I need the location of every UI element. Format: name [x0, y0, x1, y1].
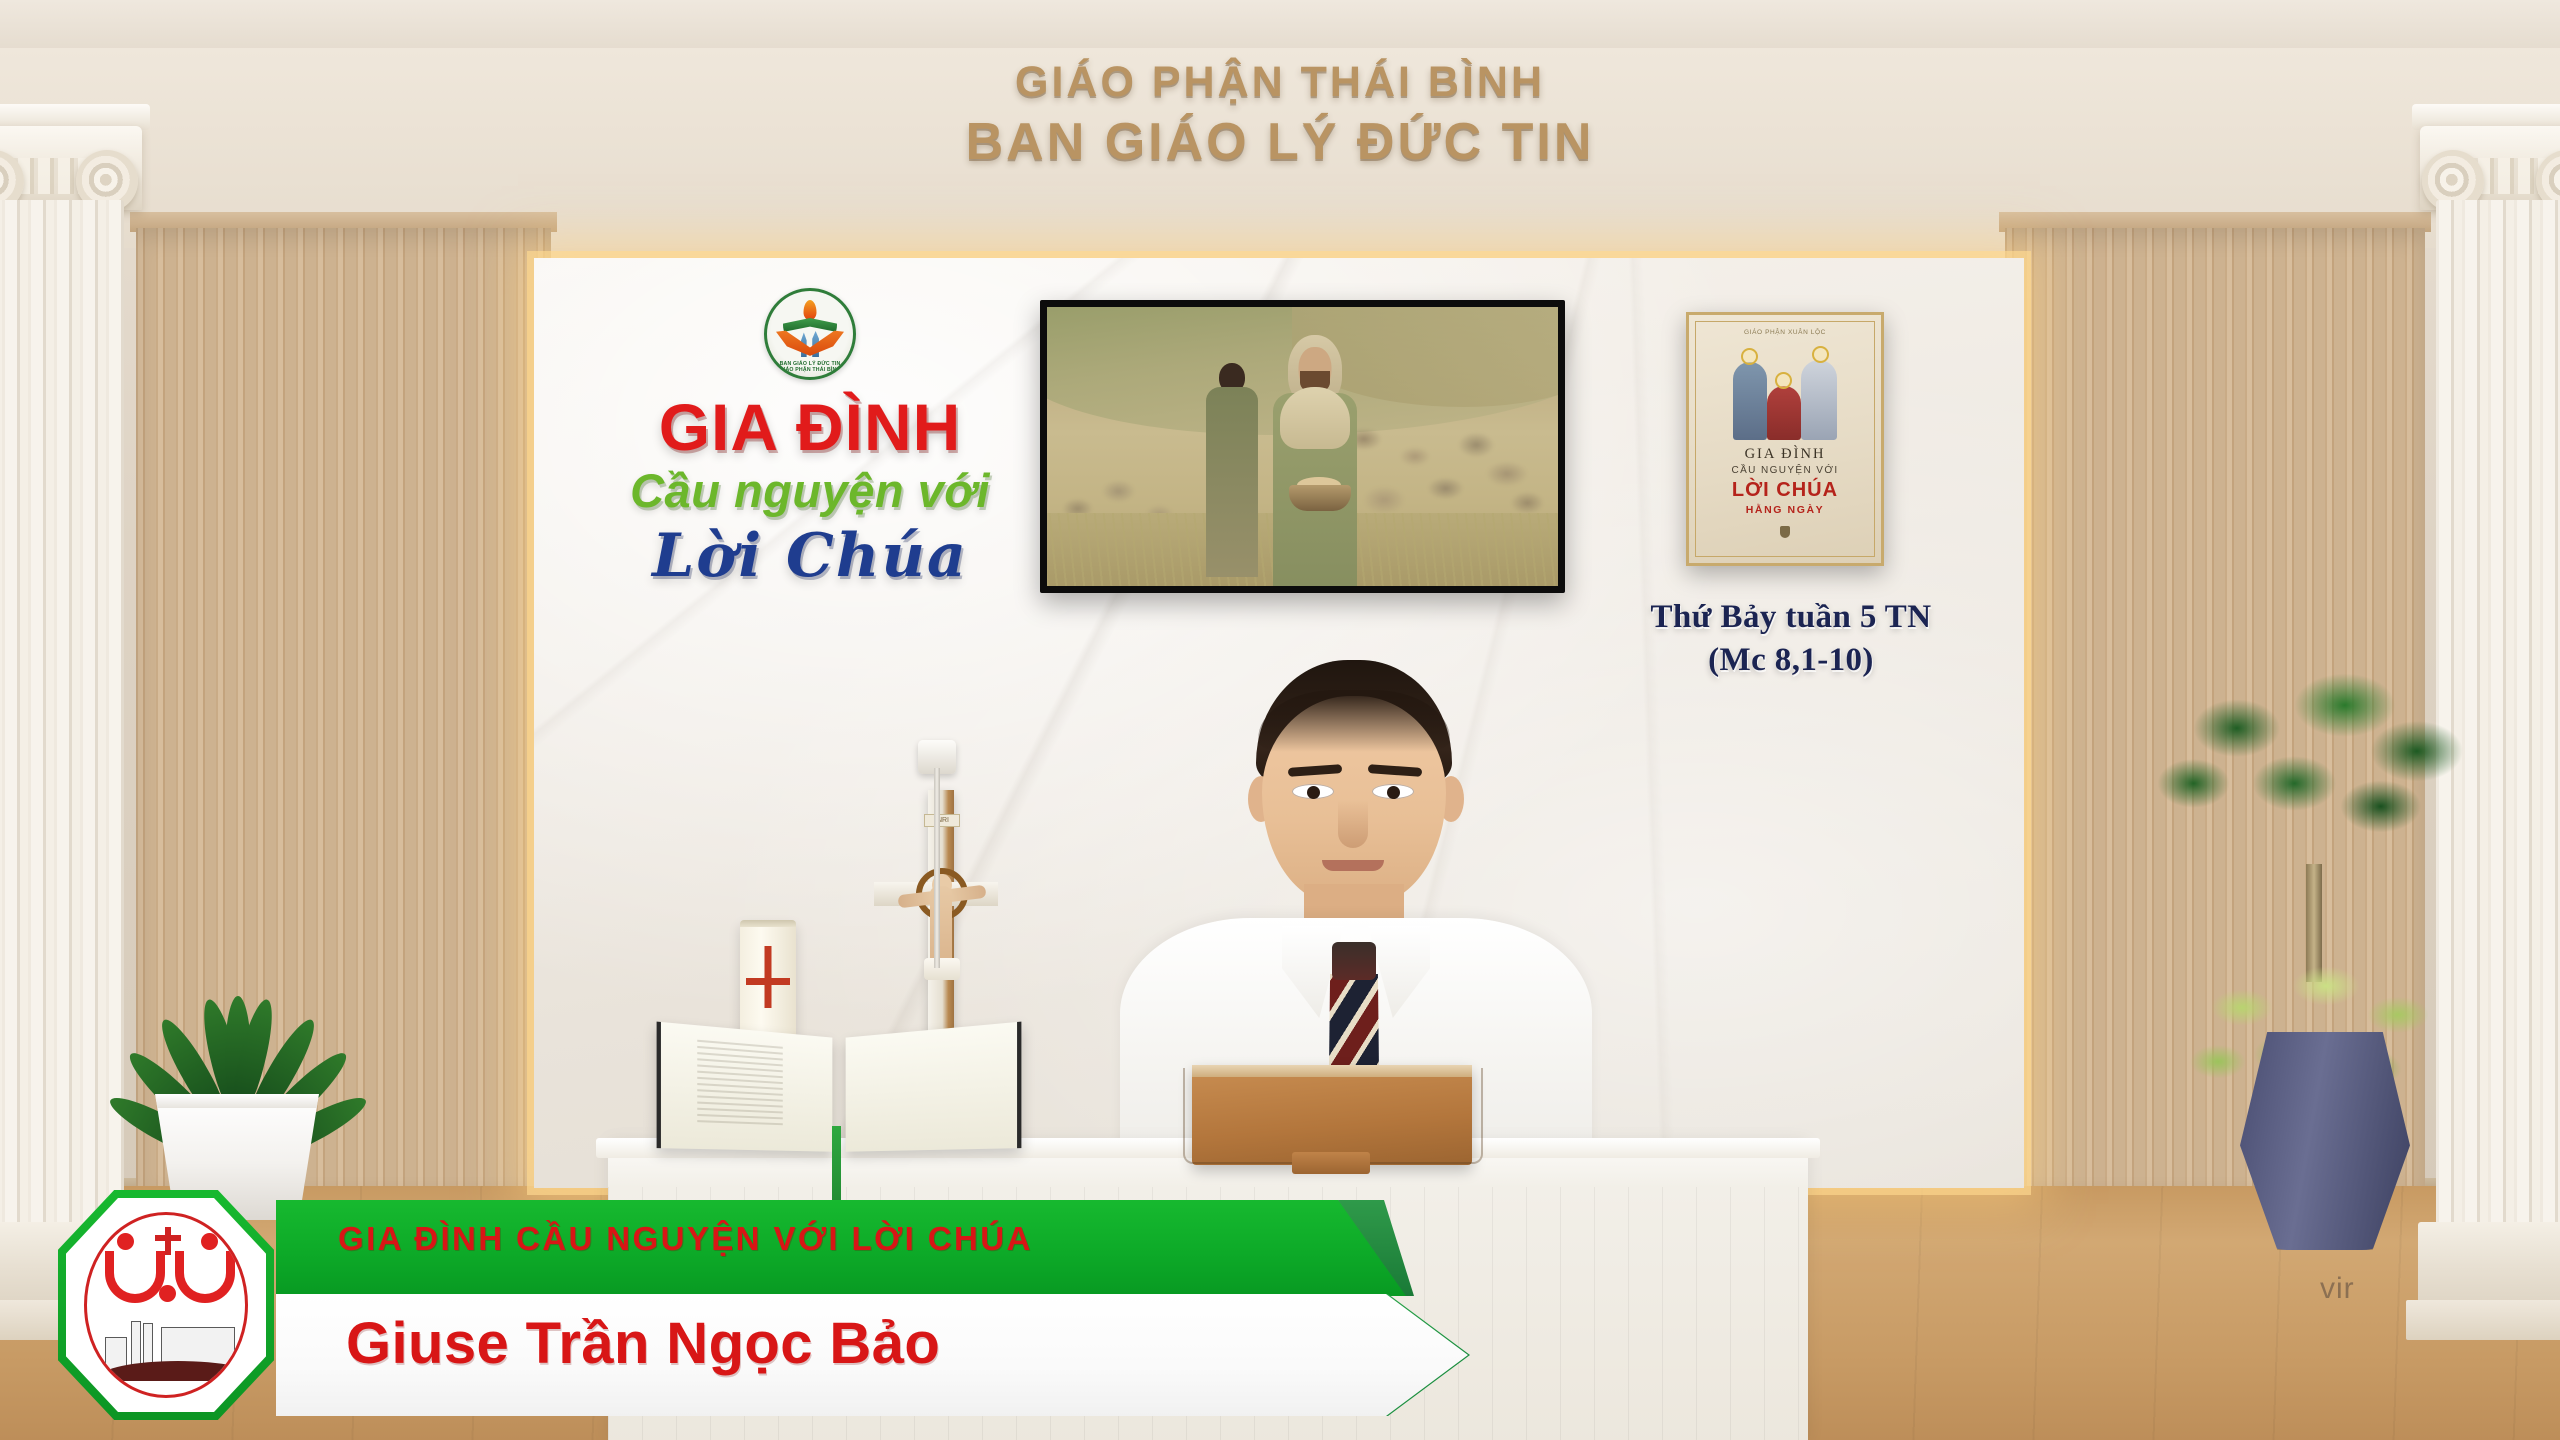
flame-icon	[804, 300, 817, 320]
inri-plaque: INRI	[924, 814, 960, 827]
book-title-line1: GIA ĐÌNH	[1697, 446, 1873, 463]
diocese-emblem-icon: BAN GIÁO LÝ ĐỨC TIN GIÁO PHẬN THÁI BÌNH	[764, 288, 856, 380]
open-book-icon	[783, 318, 837, 332]
family-figures-icon	[101, 1233, 237, 1309]
gospel-image-panel	[1040, 300, 1565, 593]
basket-icon	[1289, 485, 1351, 511]
book-title-line3: LỜI CHÚA	[1697, 479, 1873, 502]
paschal-candle	[740, 920, 796, 1038]
emblem-caption: BAN GIÁO LÝ ĐỨC TIN GIÁO PHẬN THÁI BÌNH	[767, 361, 853, 373]
liturgical-day: Thứ Bảy tuần 5 TN	[1600, 596, 1982, 638]
microphone-stand	[934, 768, 940, 968]
halo-icon	[1741, 348, 1758, 365]
disciple-figure	[1200, 363, 1264, 553]
wall-title-line1: GIA ĐÌNH	[600, 392, 1020, 462]
jesus-figure	[1267, 335, 1363, 581]
halo-icon	[1775, 372, 1792, 389]
potted-plant-left	[30, 740, 420, 1220]
wall-title-line2: Cầu nguyện với	[600, 462, 1020, 520]
scripture-reference: Thứ Bảy tuần 5 TN (Mc 8,1-10)	[1600, 596, 1982, 682]
ficus-canopy	[2136, 650, 2496, 880]
cross-icon	[165, 1227, 171, 1255]
wall-title-line3: Lời Chúa	[600, 520, 1020, 592]
halo-icon	[1812, 346, 1829, 363]
cross-icon	[765, 946, 772, 1008]
header-title-group: GIÁO PHẬN THÁI BÌNH BAN GIÁO LÝ ĐỨC TIN	[0, 54, 2560, 174]
lower-third-banner: GIA ĐÌNH CẦU NGUYỆN VỚI LỜI CHÚA Giuse T…	[58, 1190, 1478, 1440]
book-title-line4: HẰNG NGÀY	[1697, 504, 1873, 516]
lectern-foot	[1292, 1152, 1370, 1174]
gospel-citation: (Mc 8,1-10)	[1600, 638, 1982, 682]
diocese-title: GIÁO PHẬN THÁI BÌNH	[0, 54, 2560, 110]
publisher-seal-icon	[1780, 526, 1790, 538]
banner-presenter-name: Giuse Trần Ngọc Bảo	[346, 1310, 1386, 1377]
wall-title-block: BAN GIÁO LÝ ĐỨC TIN GIÁO PHẬN THÁI BÌNH …	[600, 288, 1020, 592]
lectern-wire-stand	[1183, 1068, 1483, 1164]
dark-plant-vase	[2240, 1032, 2410, 1250]
book-title-line2: CẦU NGUYỆN VỚI	[1697, 465, 1873, 476]
potted-plant-right	[2110, 650, 2550, 1250]
cathedral-skyline-icon	[97, 1319, 243, 1381]
gospel-image	[1047, 307, 1558, 586]
department-title: BAN GIÁO LÝ ĐỨC TIN	[0, 110, 2560, 174]
family-ministry-logo	[58, 1190, 274, 1420]
holy-family-illustration	[1729, 344, 1841, 440]
banner-program-title: GIA ĐÌNH CẦU NGUYỆN VỚI LỜI CHÚA	[338, 1220, 1358, 1258]
book-publisher: GIÁO PHẬN XUÂN LỘC	[1697, 329, 1873, 336]
broadcast-stage: GIÁO PHẬN THÁI BÌNH BAN GIÁO LÝ ĐỨC TIN …	[0, 0, 2560, 1440]
open-hands-icon	[776, 329, 844, 357]
book-cover: GIÁO PHẬN XUÂN LỘC GIA ĐÌNH CẦU NGUYỆN V…	[1686, 312, 1884, 566]
watermark-text: vir	[2320, 1272, 2355, 1306]
open-bible	[660, 1030, 1020, 1162]
